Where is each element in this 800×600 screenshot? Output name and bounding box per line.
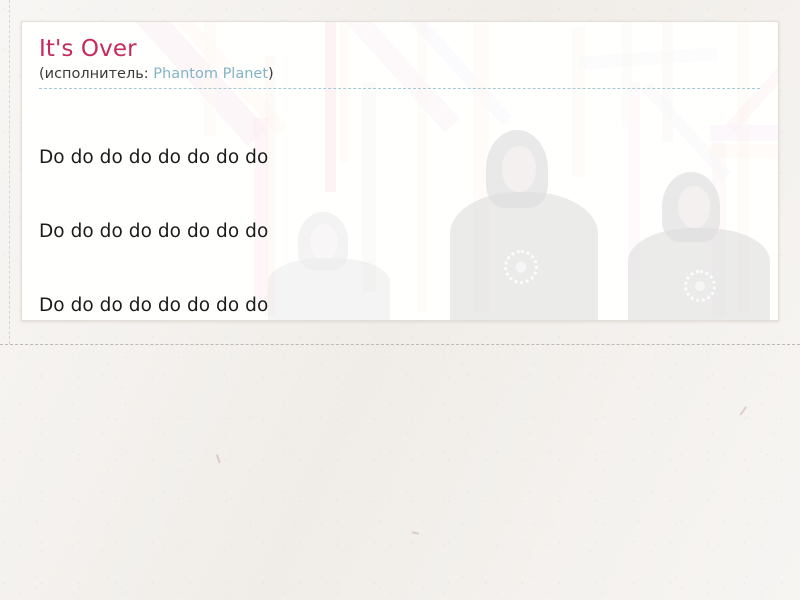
page-title: It's Over — [39, 36, 760, 63]
lyrics-card: It's Over (исполнитель: Phantom Planet) … — [21, 21, 779, 321]
paper-speck — [216, 454, 220, 463]
lyric-line: Do do do do do do do do — [39, 220, 760, 245]
page-horizontal-rule — [0, 344, 800, 345]
card-content: It's Over (исполнитель: Phantom Planet) … — [22, 22, 778, 321]
artist-suffix-label: ) — [268, 66, 274, 82]
lyric-line: Do do do do do do do do — [39, 146, 760, 171]
lyrics-text: Do do do do do do do do Do do do do do d… — [39, 97, 760, 321]
paper-speck — [412, 531, 419, 534]
artist-prefix-label: (исполнитель: — [39, 66, 153, 82]
page-left-margin-rule — [0, 0, 10, 344]
lyric-line: Do do do do do do do do — [39, 294, 760, 319]
title-divider — [39, 88, 760, 89]
paper-speck — [740, 406, 747, 415]
artist-link[interactable]: Phantom Planet — [153, 66, 268, 82]
artist-line: (исполнитель: Phantom Planet) — [39, 65, 760, 87]
